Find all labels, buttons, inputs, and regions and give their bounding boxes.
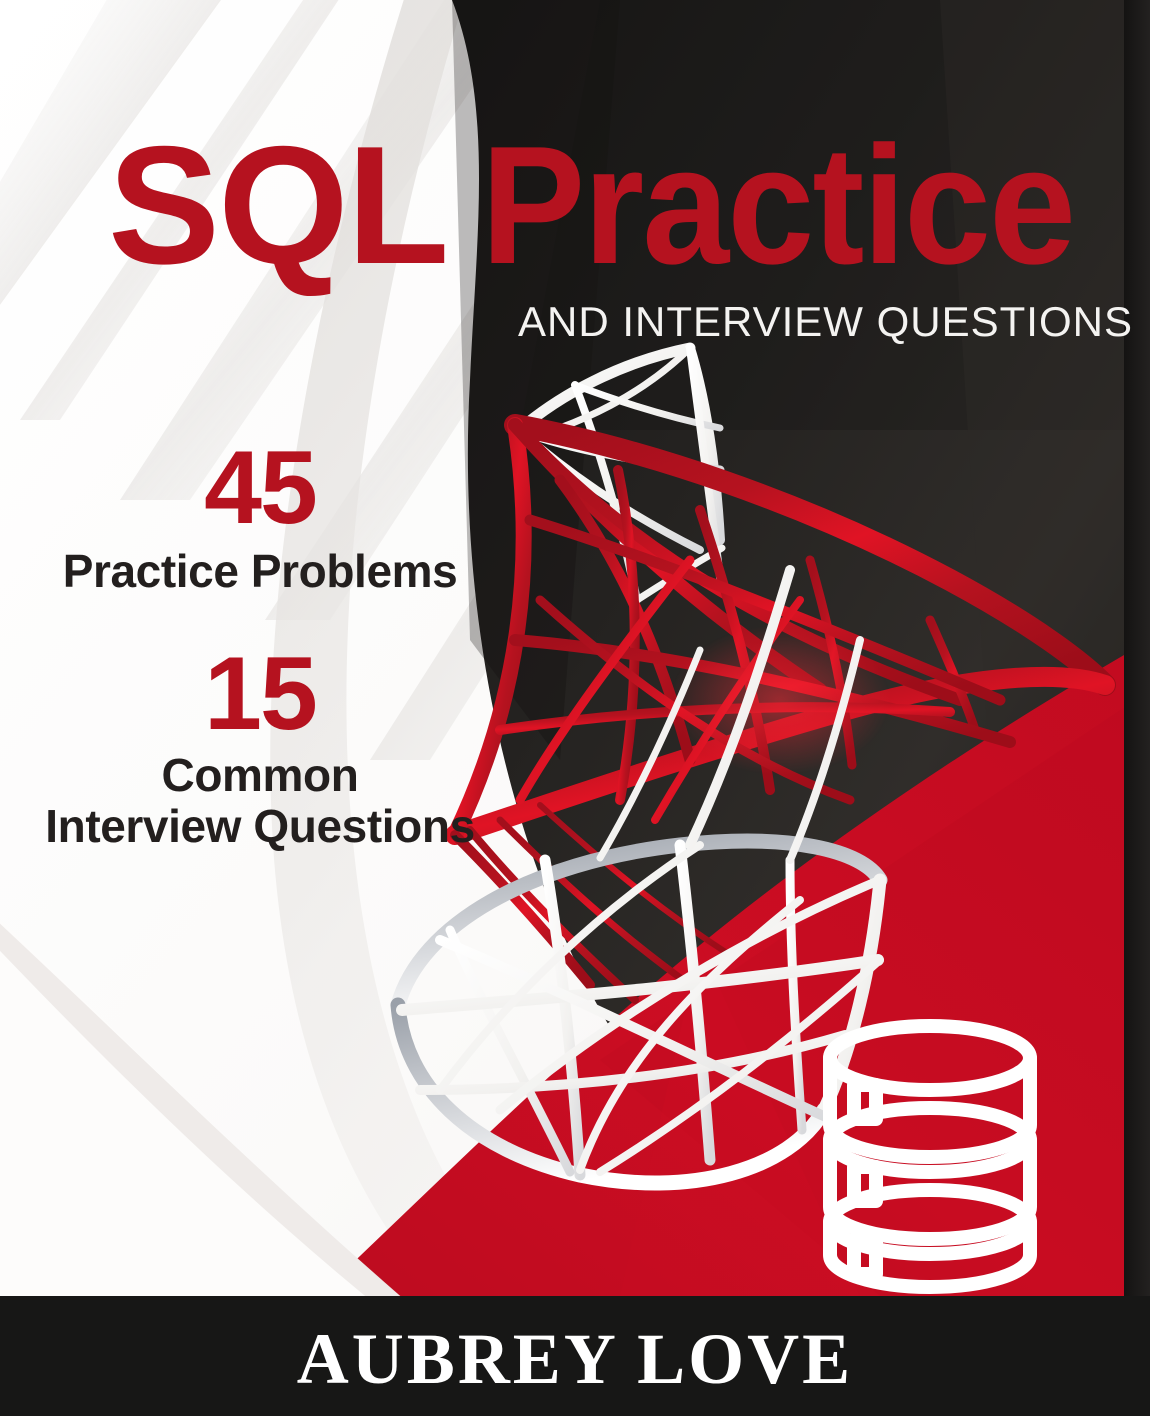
stat-label-interview-questions-line-1: Common (0, 750, 520, 802)
stat-label-practice-problems: Practice Problems (0, 546, 520, 598)
stat-number-practice-problems: 45 (0, 436, 520, 540)
cover-title: SQL Practice (108, 128, 1068, 298)
title-word-practice: Practice (481, 128, 1074, 283)
author-name: AUBREY LOVE (0, 1318, 1150, 1401)
stat-label-interview-questions-line-2: Interview Questions (0, 801, 520, 853)
book-cover: SQL Practice AND INTERVIEW QUESTIONS 45 … (0, 0, 1150, 1416)
database-cylinder-icon (830, 1026, 1030, 1287)
title-word-sql: SQL (108, 128, 447, 283)
cover-subtitle: AND INTERVIEW QUESTIONS (518, 298, 1133, 346)
stat-number-interview-questions: 15 (0, 642, 520, 746)
stats-block: 45 Practice Problems 15 Common Interview… (0, 436, 520, 853)
